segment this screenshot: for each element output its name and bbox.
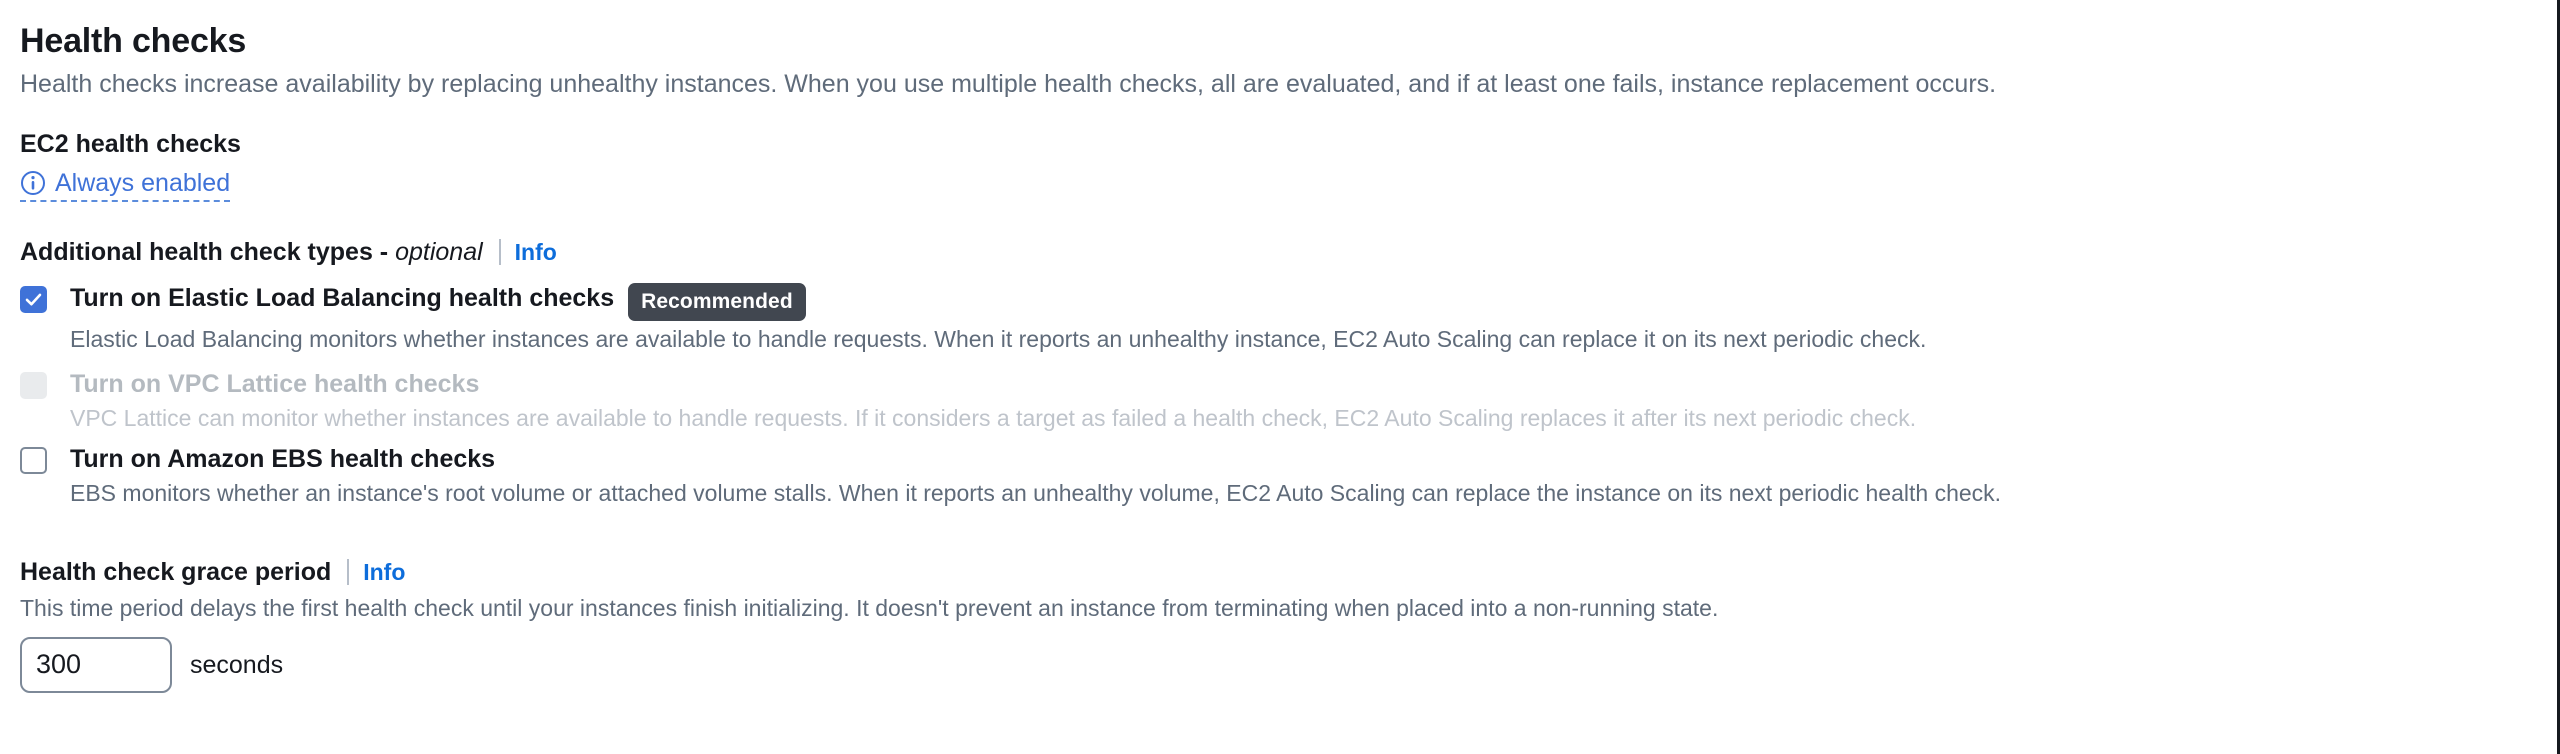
grace-period-section: Health check grace period Info This time… (20, 556, 2533, 693)
checkbox-label-elb[interactable]: Turn on Elastic Load Balancing health ch… (70, 284, 614, 312)
checkbox-cell-ebs (20, 443, 70, 474)
info-circle-icon (20, 170, 46, 196)
additional-types-info-link[interactable]: Info (515, 238, 557, 266)
additional-health-check-types-section: Additional health check types - optional… (20, 236, 2533, 508)
ec2-health-checks-section: EC2 health checks Always enabled (20, 128, 2533, 202)
checkbox-label-vpc-lattice: Turn on VPC Lattice health checks (70, 370, 479, 398)
grace-period-header: Health check grace period Info (20, 556, 2533, 588)
always-enabled-status[interactable]: Always enabled (20, 168, 230, 202)
label-divider (499, 239, 501, 265)
checkbox-cell-elb (20, 282, 70, 313)
grace-period-input[interactable] (20, 637, 172, 693)
health-checks-panel: Health checks Health checks increase ava… (0, 0, 2560, 754)
grace-period-label: Health check grace period (20, 556, 331, 588)
checkbox-content-ebs: Turn on Amazon EBS health checks EBS mon… (70, 443, 2001, 508)
grace-period-input-row: seconds (20, 637, 2533, 693)
checkbox-vpc-lattice (20, 372, 47, 399)
row-gap-2 (20, 433, 2533, 443)
checkbox-row-ebs: Turn on Amazon EBS health checks EBS mon… (20, 443, 2533, 508)
checkbox-label-line-vpc-lattice: Turn on VPC Lattice health checks (70, 368, 1916, 400)
checkbox-ebs[interactable] (20, 447, 47, 474)
additional-types-label: Additional health check types - optional (20, 236, 483, 268)
checkbox-elb[interactable] (20, 286, 47, 313)
checkbox-content-vpc-lattice: Turn on VPC Lattice health checks VPC La… (70, 368, 1916, 433)
page-description: Health checks increase availability by r… (20, 68, 2533, 100)
checkbox-description-ebs: EBS monitors whether an instance's root … (70, 478, 2001, 508)
row-gap-1 (20, 354, 2533, 368)
checkbox-description-elb: Elastic Load Balancing monitors whether … (70, 324, 1926, 354)
always-enabled-label: Always enabled (55, 168, 230, 198)
checkbox-content-elb: Turn on Elastic Load Balancing health ch… (70, 282, 1926, 354)
checkbox-cell-vpc-lattice (20, 368, 70, 399)
additional-types-label-text: Additional health check types - (20, 238, 395, 266)
checkbox-label-line-elb: Turn on Elastic Load Balancing health ch… (70, 282, 1926, 321)
checkbox-label-line-ebs: Turn on Amazon EBS health checks (70, 443, 2001, 475)
additional-types-header: Additional health check types - optional… (20, 236, 2533, 268)
checkbox-description-vpc-lattice: VPC Lattice can monitor whether instance… (70, 403, 1916, 433)
grace-period-unit-label: seconds (190, 650, 283, 680)
health-check-options-list: Turn on Elastic Load Balancing health ch… (20, 282, 2533, 508)
page-title: Health checks (20, 20, 2533, 62)
checkbox-label-ebs[interactable]: Turn on Amazon EBS health checks (70, 445, 495, 473)
grace-period-description: This time period delays the first health… (20, 593, 2533, 623)
recommended-badge: Recommended (628, 283, 806, 321)
checkbox-row-vpc-lattice: Turn on VPC Lattice health checks VPC La… (20, 368, 2533, 433)
additional-types-optional-text: optional (395, 238, 483, 266)
grace-period-info-link[interactable]: Info (363, 558, 405, 586)
checkbox-row-elb: Turn on Elastic Load Balancing health ch… (20, 282, 2533, 354)
ec2-health-checks-label: EC2 health checks (20, 128, 2533, 160)
grace-label-divider (347, 559, 349, 585)
health-checks-content: Health checks Health checks increase ava… (0, 0, 2557, 693)
